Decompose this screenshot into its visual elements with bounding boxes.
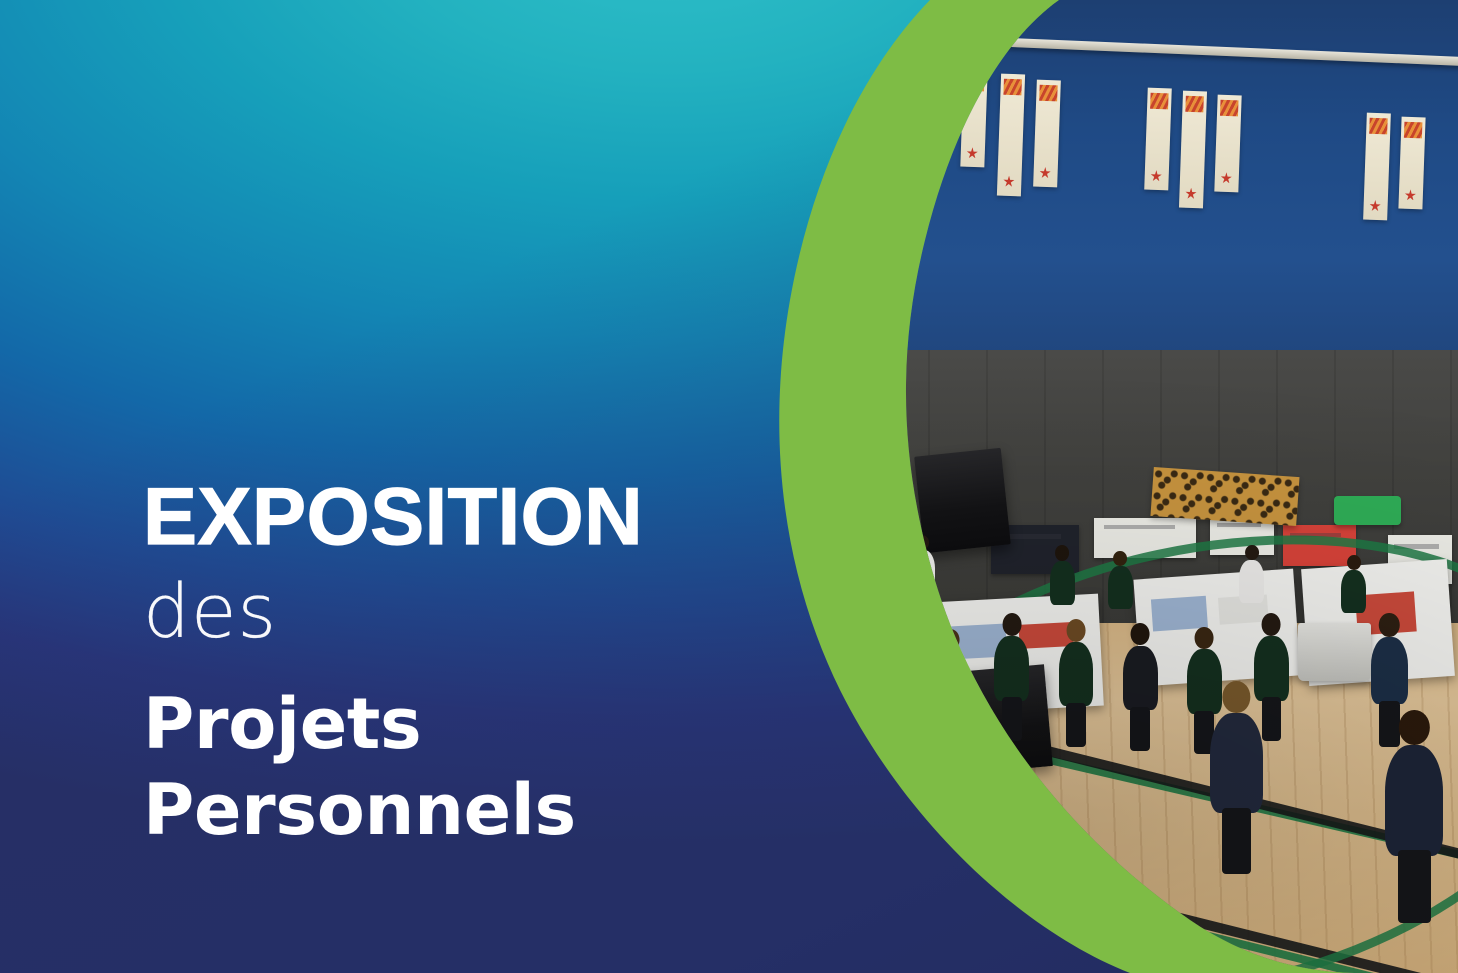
headline-line-personnels: Personnels bbox=[143, 773, 843, 849]
headline-line-exposition: EXPOSITION bbox=[143, 480, 843, 555]
headline-line-des: des bbox=[143, 571, 843, 654]
headline-line-projets: Projets bbox=[143, 687, 843, 763]
poster-canvas: OE bbox=[0, 0, 1458, 973]
headline-block: EXPOSITION des Projets Personnels bbox=[143, 480, 843, 849]
